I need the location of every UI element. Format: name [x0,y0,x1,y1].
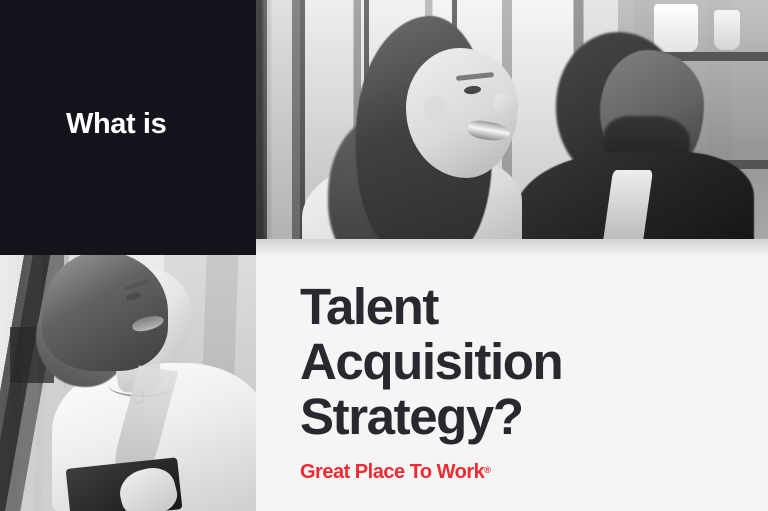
window-mullion-icon [262,0,267,255]
content-panel: Talent Acquisition Strategy? Great Place… [256,255,768,511]
headline-line-1: Talent [300,279,562,334]
cup-object [654,4,698,52]
person-a-ear [424,96,446,122]
portrait-photo [0,255,256,511]
page-title: Talent Acquisition Strategy? [300,279,562,444]
promo-card: What is [0,0,768,511]
portrait-hair [42,255,168,371]
desk-surface [256,239,768,255]
eyebrow-text: What is [66,109,166,141]
cup-object [714,10,740,50]
office-photo [256,0,768,255]
headline-line-3: Strategy? [300,389,562,444]
brand-logo-text: Great Place To Work [300,461,484,483]
headline-line-2: Acquisition [300,334,562,389]
person-a-nose [494,94,518,114]
brand-logo: Great Place To Work® [300,461,491,484]
eyebrow-panel: What is [0,0,256,255]
registered-trademark-icon: ® [484,465,491,475]
